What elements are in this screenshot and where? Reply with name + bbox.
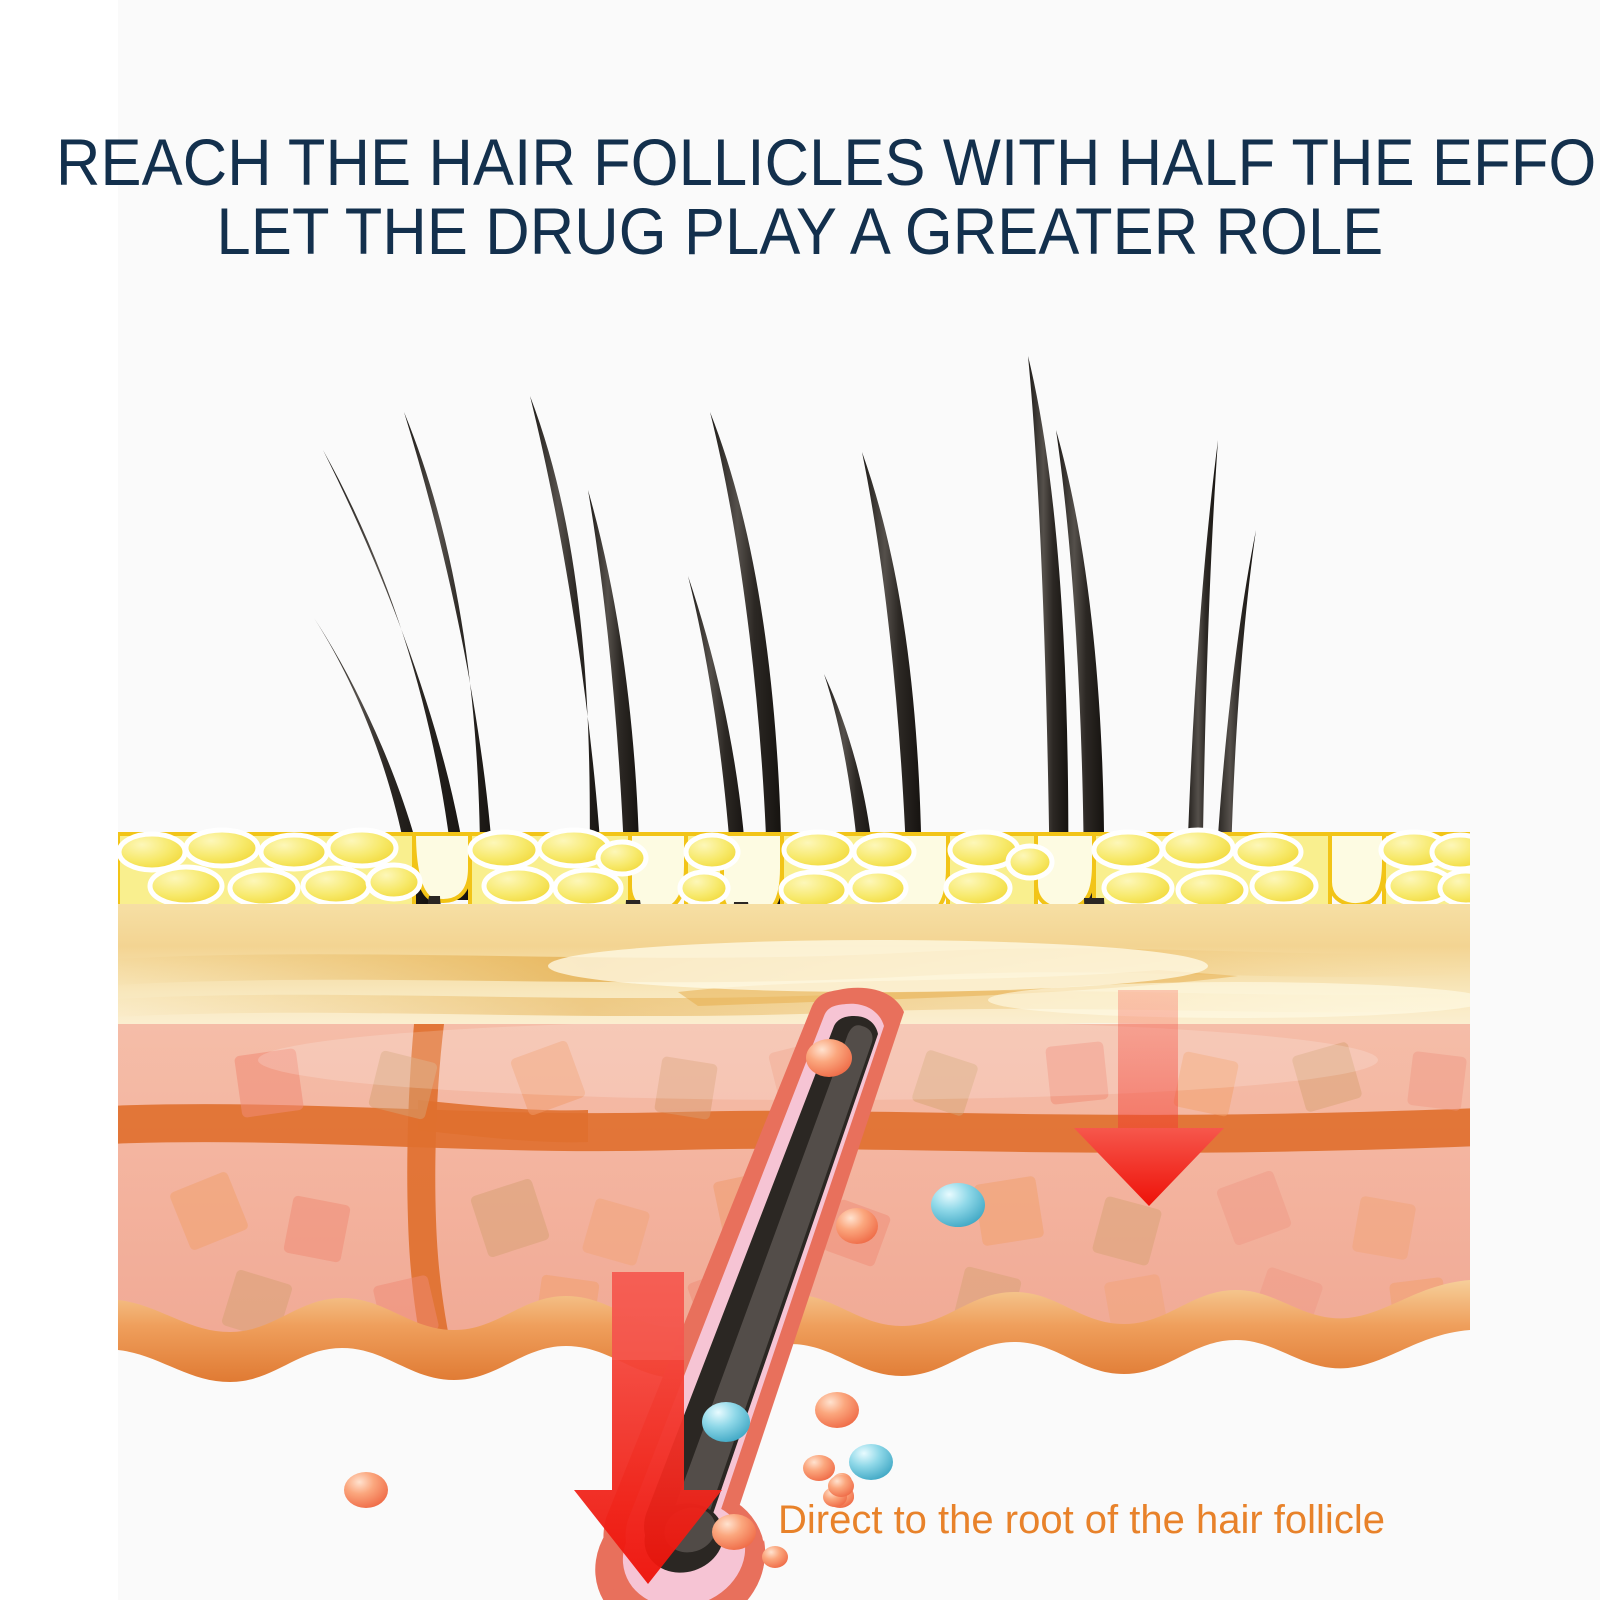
- caption-line-1: Direct to the root of the hair follicle: [778, 1496, 1385, 1545]
- hair-strand: [1028, 356, 1068, 900]
- diagram-caption: Direct to the root of the hair follicle …: [778, 1398, 1385, 1600]
- hair-shafts: [314, 356, 1256, 908]
- page-title: REACH THE HAIR FOLLICLES WITH HALF THE E…: [0, 128, 1600, 265]
- hair-strand: [530, 396, 604, 904]
- title-line-2: LET THE DRUG PLAY A GREATER ROLE: [56, 197, 1544, 266]
- title-line-1: REACH THE HAIR FOLLICLES WITH HALF THE E…: [56, 128, 1544, 197]
- poster-canvas: REACH THE HAIR FOLLICLES WITH HALF THE E…: [0, 0, 1600, 1600]
